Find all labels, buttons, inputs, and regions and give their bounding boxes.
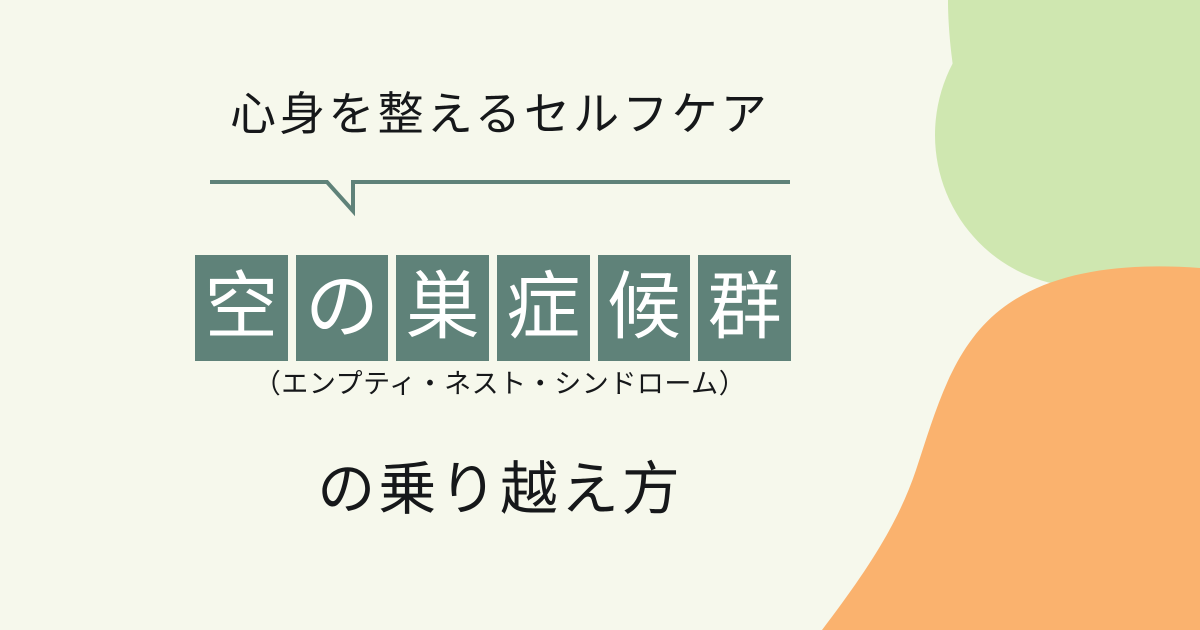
- orange-blob-icon: [822, 266, 1200, 630]
- kicker-heading: 心身を整えるセルフケア: [0, 88, 1000, 141]
- green-blob-icon: [935, 0, 1200, 287]
- title-reading: （エンプティ・ネスト・シンドローム）: [0, 368, 1000, 400]
- title-char-box: の: [296, 255, 389, 361]
- boxed-title: 空 の 巣 症 候 群: [195, 255, 791, 361]
- title-tail: の乗り越え方: [0, 455, 1000, 525]
- title-char-box: 巣: [396, 255, 489, 361]
- notched-rule-divider: [205, 170, 795, 218]
- title-char-box: 症: [497, 255, 590, 361]
- title-char-box: 候: [598, 255, 691, 361]
- title-char-box: 群: [698, 255, 791, 361]
- title-char-box: 空: [195, 255, 288, 361]
- poster-canvas: 心身を整えるセルフケア 空 の 巣 症 候 群 （エンプティ・ネスト・シンドロー…: [0, 0, 1200, 630]
